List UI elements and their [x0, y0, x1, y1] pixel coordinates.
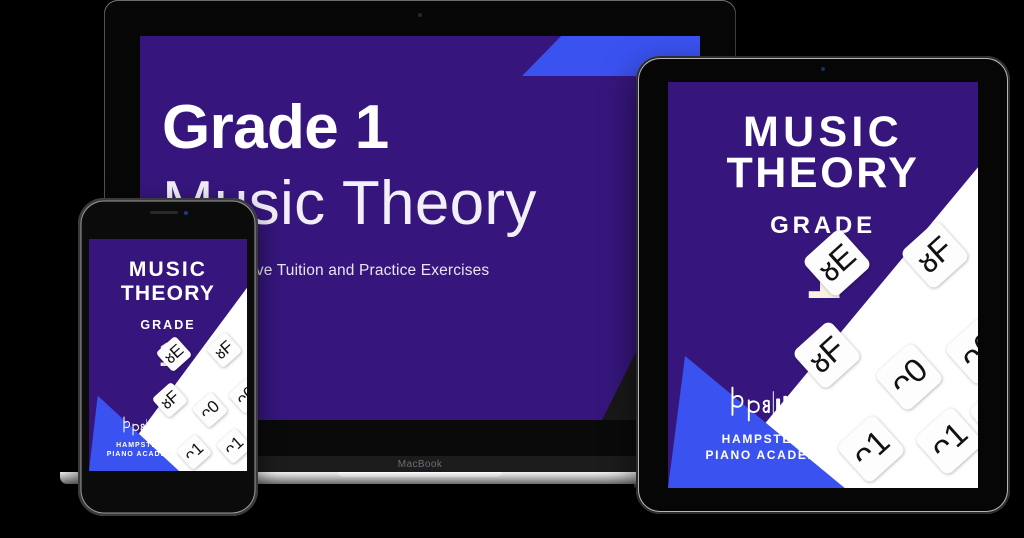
note-glyph: ᴕF — [157, 387, 182, 412]
hpa-logo-icon — [724, 384, 810, 424]
note-glyph: ᴖ0 — [953, 325, 978, 374]
book-cover-tablet: MUSIC THEORY GRADE 1 ᴕE ᴕF ᴕF ᴖ0 ᴖ0 ᴖ1 ᴖ… — [668, 82, 978, 488]
brand-lockup: HAMPSTEAD PIANO ACADEMY — [95, 415, 190, 460]
book-cover-phone: MUSIC THEORY GRADE 1 ᴕE ᴕF ᴕF ᴖ0 ᴖ0 ᴖ1 ᴖ… — [89, 239, 247, 471]
note-glyph: ᴖ1 — [977, 387, 978, 436]
cover-title-line1: MUSIC — [89, 258, 247, 282]
note-card: ᴖ0 — [192, 392, 229, 429]
ipad-device: MUSIC THEORY GRADE 1 ᴕE ᴕF ᴕF ᴖ0 ᴖ0 ᴖ1 ᴖ… — [636, 56, 1010, 514]
ipad-screen: MUSIC THEORY GRADE 1 ᴕE ᴕF ᴕF ᴖ0 ᴖ0 ᴖ1 ᴖ… — [668, 82, 978, 488]
note-glyph: ᴖ0 — [883, 351, 932, 400]
macbook-webcam-icon — [418, 13, 422, 17]
iphone-screen: MUSIC THEORY GRADE 1 ᴕE ᴕF ᴕF ᴖ0 ᴖ0 ᴖ1 ᴖ… — [89, 239, 247, 471]
iphone-speaker-grille — [150, 211, 178, 214]
note-card: ᴖ1 — [216, 428, 247, 465]
note-card: ᴕF — [792, 320, 863, 391]
note-glyph: ᴕE — [161, 341, 187, 366]
hpa-logo-icon — [120, 415, 166, 437]
iphone-device: MUSIC THEORY GRADE 1 ᴕE ᴕF ᴕF ᴖ0 ᴖ0 ᴖ1 ᴖ… — [78, 198, 258, 516]
macbook-lid-notch — [338, 472, 502, 477]
note-card: ᴖ0 — [228, 378, 247, 415]
cover-title-line2: THEORY — [668, 149, 978, 198]
note-glyph: ᴖ0 — [197, 397, 222, 422]
note-glyph: ᴖ1 — [923, 415, 972, 464]
note-card: ᴕF — [206, 332, 243, 369]
brand-name-line2: PIANO ACADEMY — [677, 447, 857, 463]
note-glyph: ᴕF — [211, 337, 236, 362]
brand-lockup: HAMPSTEAD PIANO ACADEMY — [677, 384, 857, 463]
iphone-front-camera-icon — [184, 211, 188, 215]
cover-title-line2: THEORY — [89, 282, 247, 306]
note-glyph: ᴖ1 — [221, 433, 246, 458]
product-mockup-scene: Grade 1 Music Theory Comprehensive Tuiti… — [0, 0, 1024, 538]
note-card: ᴖ0 — [944, 316, 978, 387]
note-card: ᴖ0 — [874, 342, 945, 413]
ipad-front-camera-icon — [821, 67, 825, 71]
note-card: ᴖ1 — [914, 406, 978, 477]
note-glyph: ᴕF — [802, 330, 850, 378]
brand-name-line2: PIANO ACADEMY — [95, 450, 190, 459]
cover-grade-label: GRADE — [89, 318, 247, 332]
note-glyph: ᴖ0 — [233, 383, 247, 408]
note-glyph: ᴕF — [910, 230, 958, 278]
note-glyph: ᴕE — [811, 237, 861, 286]
brand-name-line1: HAMPSTEAD — [95, 441, 190, 450]
note-card: ᴕE — [802, 228, 873, 299]
note-card: ᴕF — [152, 382, 189, 419]
slide-headline: Grade 1 — [162, 96, 700, 159]
brand-name-line1: HAMPSTEAD — [677, 431, 857, 447]
note-card: ᴕE — [156, 336, 193, 373]
note-card: ᴕF — [900, 220, 971, 291]
